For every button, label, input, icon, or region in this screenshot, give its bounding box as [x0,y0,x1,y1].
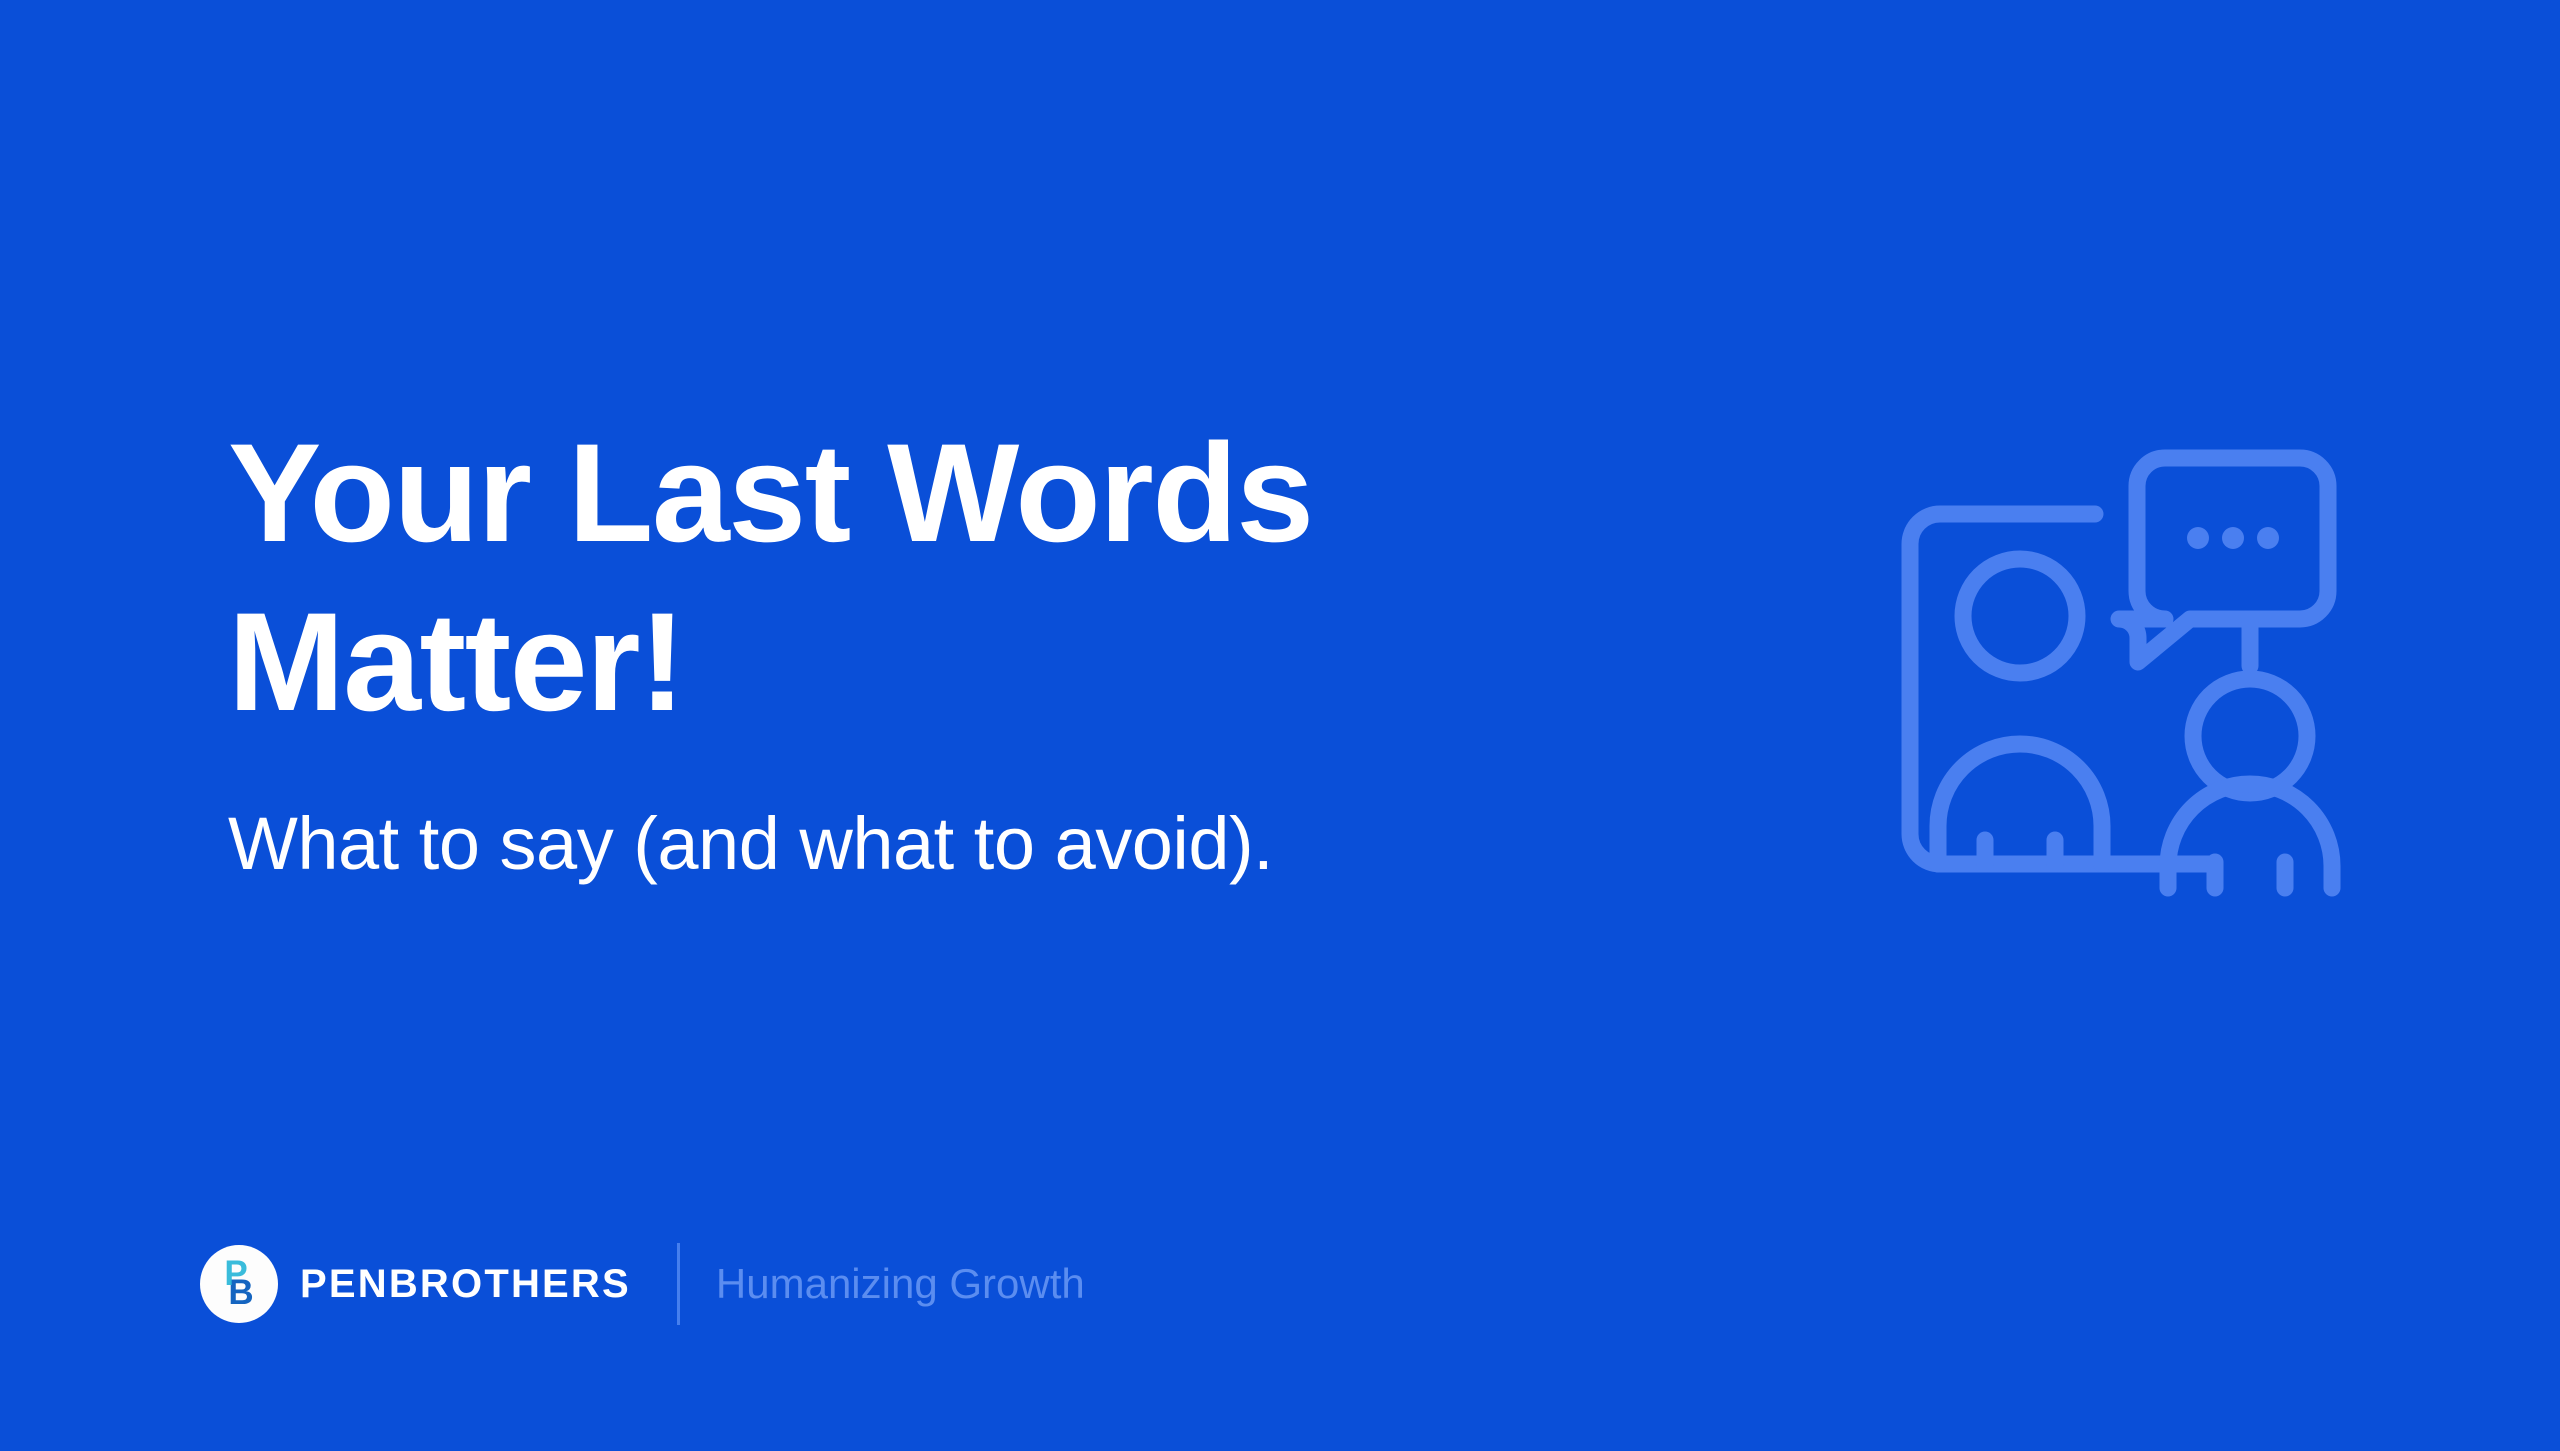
slide-canvas: Your Last Words Matter! What to say (and… [0,0,2560,1451]
speech-bubble-icon [2119,458,2328,662]
speech-dot-1-icon [2187,527,2209,549]
brand-mark: B P PENBROTHERS [200,1245,631,1323]
brand-tagline: Humanizing Growth [716,1263,1085,1305]
penbrothers-logo-badge: B P [200,1245,278,1323]
video-interview-illustration [1880,448,2360,898]
footer-brand-lockup: B P PENBROTHERS Humanizing Growth [200,1243,1085,1325]
screen-person-head-icon [1963,559,2077,673]
lockup-divider [677,1243,680,1325]
speech-dot-3-icon [2257,527,2279,549]
headline-block: Your Last Words Matter! [228,408,1628,747]
monogram-letter-p: P [224,1254,247,1293]
page-title: Your Last Words Matter! [228,408,1628,747]
pb-monogram-icon: B P [200,1245,278,1323]
brand-wordmark: PENBROTHERS [300,1264,631,1304]
subtitle: What to say (and what to avoid). [228,800,1273,887]
speech-dot-2-icon [2222,527,2244,549]
screen-person-shoulders-icon [1938,744,2102,864]
